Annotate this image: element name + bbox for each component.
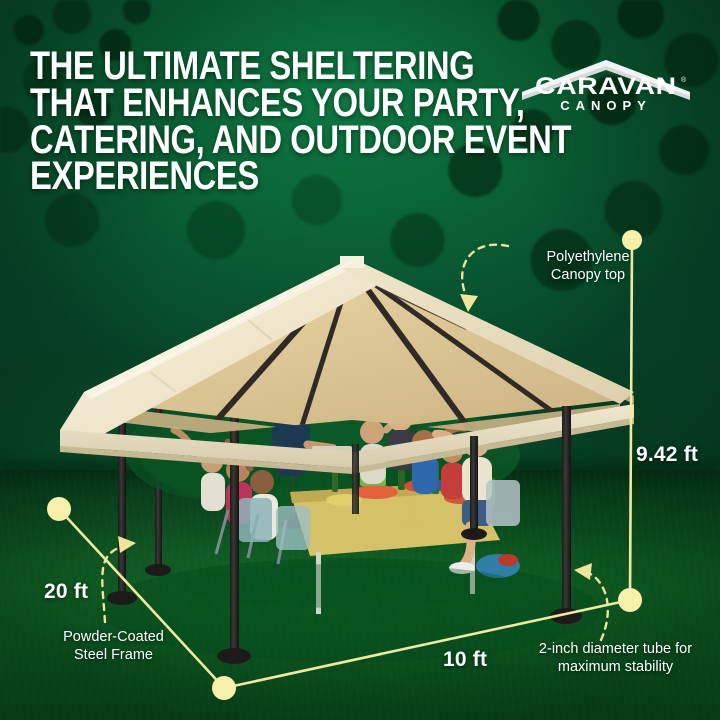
callout-canopy-top-line1: Polyethylene [508,248,668,266]
dimension-label-width: 10 ft [443,648,487,672]
height-dimension-line [630,240,632,600]
brand-logo: CARAVAN ® CANOPY [518,58,698,114]
dimension-dot-right [618,588,642,612]
callout-tube-line2: maximum stability [518,658,713,676]
callout-tube: 2-inch diameter tube for maximum stabili… [518,640,713,676]
callout-steel-frame: Powder-Coated Steel Frame [36,628,191,664]
headline-line-2: THAT ENHANCES YOUR PARTY, [30,85,456,122]
brand-registered: ® [681,76,687,84]
product-infographic: THE ULTIMATE SHELTERING THAT ENHANCES YO… [0,0,720,720]
callout-canopy-top-line2: Canopy top [508,266,668,284]
callout-canopy-top: Polyethylene Canopy top [508,248,668,284]
steel-frame-arrow [102,546,124,622]
tube-arrowhead [574,563,592,580]
callout-tube-line1: 2-inch diameter tube for [518,640,713,658]
brand-subwordmark: CANOPY [560,98,652,113]
canopy-top-arrow [462,245,508,300]
callout-steel-frame-line1: Powder-Coated [36,628,191,646]
dimension-label-height: 9.42 ft [636,443,698,467]
steel-frame-arrowhead [118,536,136,553]
dimension-label-length: 20 ft [44,580,88,604]
brand-wordmark: CARAVAN [535,72,676,99]
headline-line-1: THE ULTIMATE SHELTERING [30,48,456,85]
dimension-dot-top [622,230,642,250]
dimension-dot-bottom [212,676,236,700]
headline-line-4: EXPERIENCES [30,158,456,195]
canopy-top-arrowhead [460,294,478,312]
page-title: THE ULTIMATE SHELTERING THAT ENHANCES YO… [30,48,456,195]
callout-steel-frame-line2: Steel Frame [36,646,191,664]
dimension-dot-left [47,497,71,521]
headline-line-3: CATERING, AND OUTDOOR EVENT [30,122,456,159]
